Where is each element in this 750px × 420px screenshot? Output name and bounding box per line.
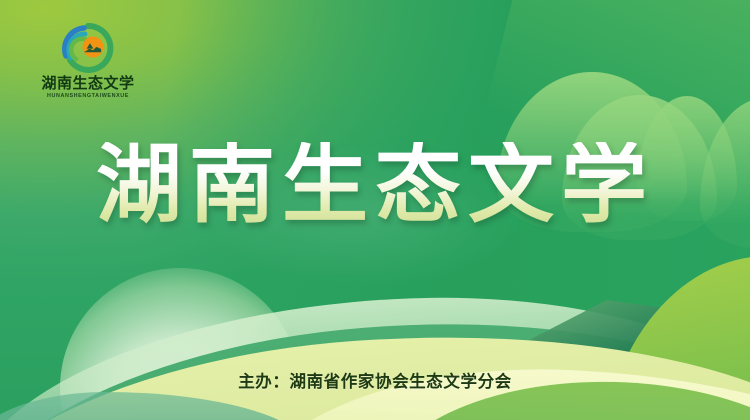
ridge-mint: [0, 277, 750, 420]
field-teal-bottom-left: [0, 392, 310, 420]
logo-name-cn: 湖南生态文学: [28, 76, 148, 92]
ridge-dark-green: [0, 291, 750, 420]
hill-lime-right: [600, 256, 750, 420]
hunan-eco-literature-emblem-icon: [60, 22, 116, 74]
field-pale-foreground: [0, 305, 750, 420]
title-wrap: 湖南生态文学: [0, 142, 750, 228]
logo-block[interactable]: 湖南生态文学 HUNANSHENGTAIWENXUE: [28, 22, 148, 99]
eco-literature-banner: 湖南生态文学 HUNANSHENGTAIWENXUE 湖南生态文学 主办：湖南省…: [0, 0, 750, 420]
mountain-wedge-deep: [430, 300, 750, 420]
organiser-line: 主办：湖南省作家协会生态文学分会: [0, 368, 750, 392]
logo-pinyin: HUNANSHENGTAIWENXUE: [28, 93, 148, 99]
sun-glow-shape: [60, 268, 300, 420]
main-title: 湖南生态文学: [90, 142, 660, 228]
